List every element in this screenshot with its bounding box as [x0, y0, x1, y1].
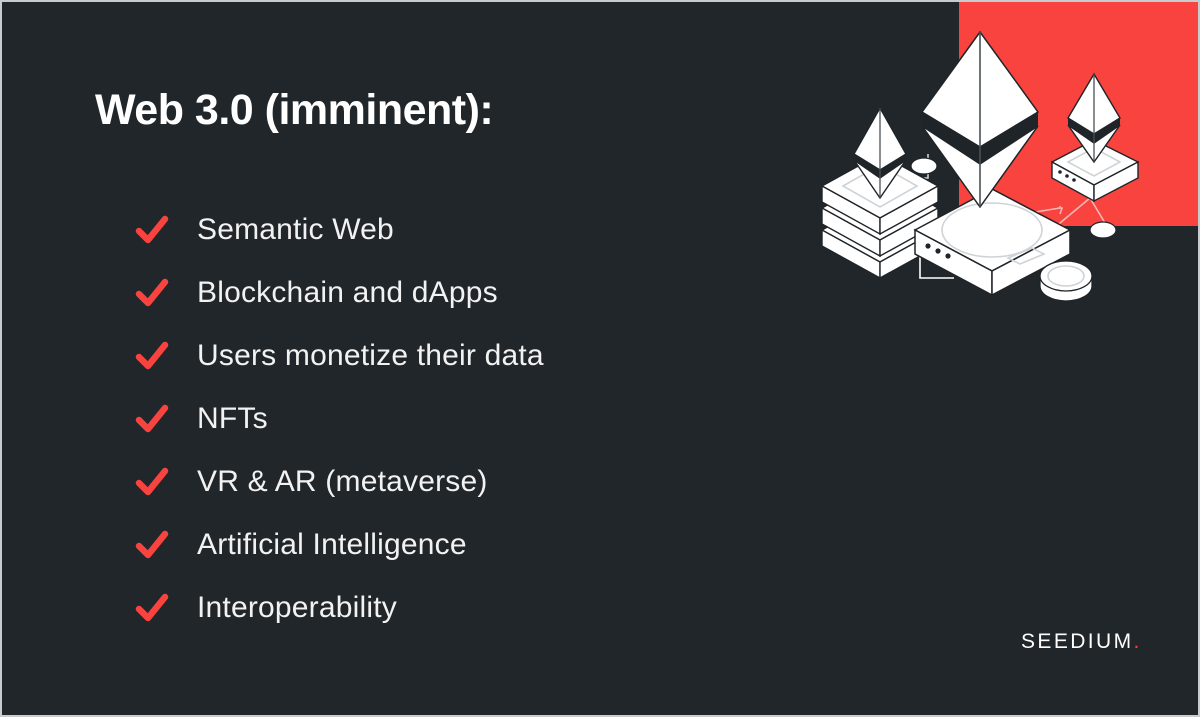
page-title: Web 3.0 (imminent): — [95, 86, 493, 135]
brand-dot: . — [1133, 630, 1141, 653]
slide-canvas: .wh { fill:#ffffff; } .dk { fill:#1f2428… — [0, 0, 1200, 717]
connector-node-right — [1090, 222, 1116, 238]
list-item: Blockchain and dApps — [132, 261, 772, 324]
ethereum-isometric-illustration: .wh { fill:#ffffff; } .dk { fill:#1f2428… — [802, 2, 1200, 332]
list-item: Artificial Intelligence — [132, 513, 772, 576]
list-item-label: Semantic Web — [197, 213, 394, 247]
check-icon — [132, 525, 172, 565]
brand-logo: SEEDIUM. — [1021, 630, 1142, 654]
list-item: VR & AR (metaverse) — [132, 450, 772, 513]
check-icon — [132, 399, 172, 439]
list-item: Semantic Web — [132, 198, 772, 261]
list-item: Interoperability — [132, 576, 772, 639]
feature-checklist: Semantic Web Blockchain and dApps Users … — [132, 198, 772, 639]
list-item-label: Users monetize their data — [197, 339, 544, 373]
check-icon — [132, 588, 172, 628]
list-item-label: Blockchain and dApps — [197, 276, 498, 310]
check-icon — [132, 336, 172, 376]
connector-node-left — [911, 158, 937, 174]
list-item: Users monetize their data — [132, 324, 772, 387]
list-item: NFTs — [132, 387, 772, 450]
coin-cylinder — [1040, 261, 1092, 301]
check-icon — [132, 273, 172, 313]
list-item-label: Interoperability — [197, 591, 397, 625]
list-item-label: Artificial Intelligence — [197, 528, 467, 562]
check-icon — [132, 462, 172, 502]
list-item-label: NFTs — [197, 402, 268, 436]
list-item-label: VR & AR (metaverse) — [197, 465, 488, 499]
check-icon — [132, 210, 172, 250]
ethereum-diamond-large — [922, 32, 1038, 207]
brand-name: SEEDIUM — [1021, 630, 1133, 653]
